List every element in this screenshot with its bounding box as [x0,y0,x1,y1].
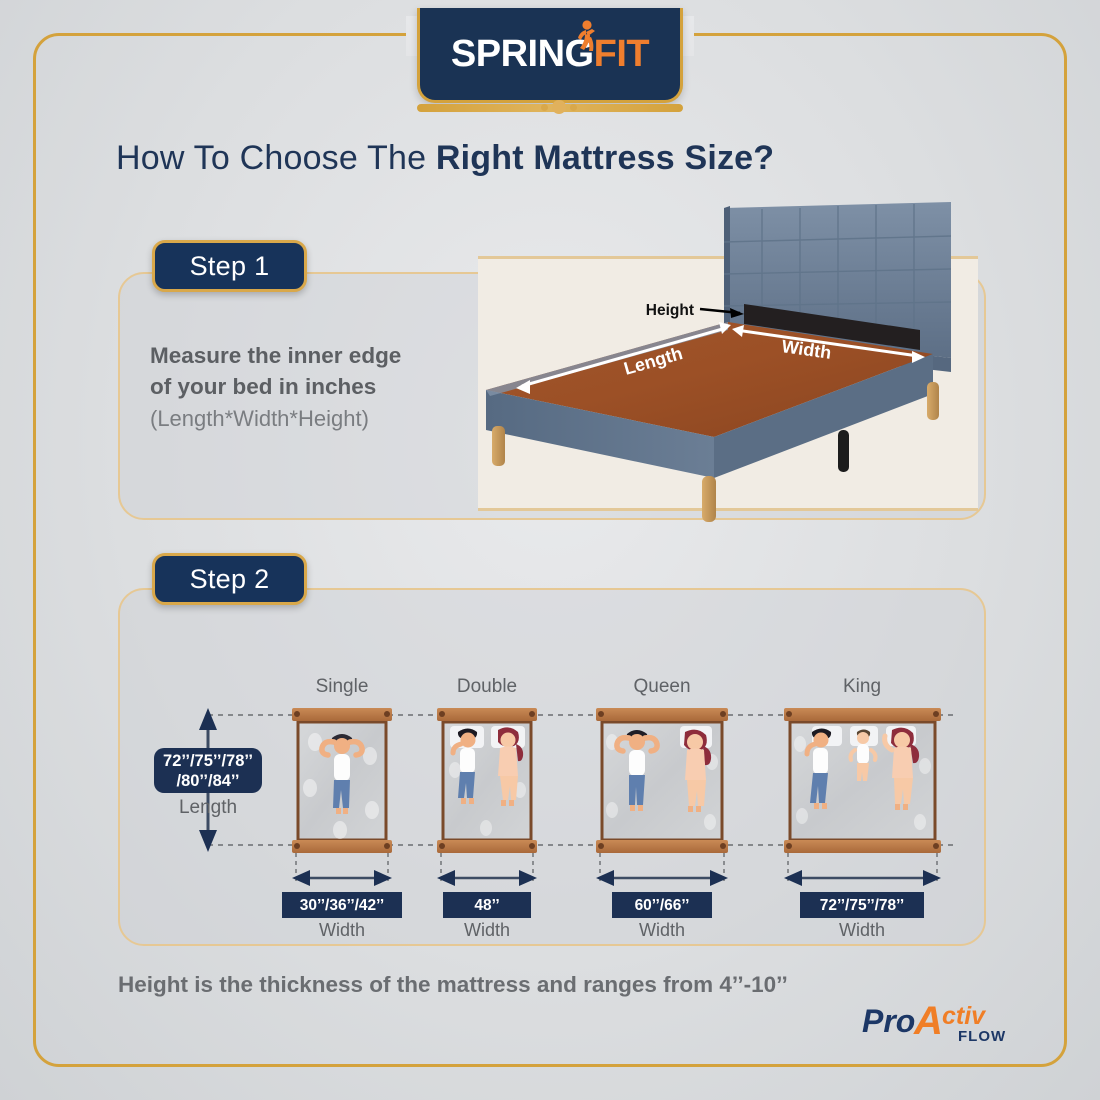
banner-dot-right [570,104,577,111]
mattress-card-queen: Queen [596,676,728,853]
width-guide-double: 48’’ Width [437,853,537,940]
size-name-double: Double [457,676,517,697]
width-caption-queen: Width [639,920,685,940]
width-value-queen: 60’’/66’’ [635,897,690,914]
width-guide-queen: 60’’/66’’ Width [596,853,728,940]
length-value-line-1: 72’’/75’’/78’’ [163,752,253,770]
width-value-double: 48’’ [474,897,499,914]
banner-dot-center [552,100,566,114]
length-value-line-2: /80’’/84’’ [177,772,240,790]
proactiv-ctiv-text: ctiv [942,1002,987,1030]
size-name-queen: Queen [633,676,690,697]
bed-illustration: Height Length Width [478,190,978,540]
bed-height-label: Height [646,302,694,319]
width-value-king: 72’’/75’’/78’’ [820,897,904,914]
brand-logo-banner: SPRINGFIT [417,8,683,103]
mattress-size-diagram: 72’’/75’’/78’’ /80’’/84’’ Length Single … [150,670,960,940]
page-title-regular: How To Choose The [116,139,436,177]
width-guide-king: 72’’/75’’/78’’ Width [784,853,941,940]
mattress-card-single: Single [292,676,392,853]
page-title-bold: Right Mattress Size? [436,139,774,177]
step-1-instructions: Measure the inner edge of your bed in in… [150,340,480,434]
mattress-card-double: Double [437,676,537,853]
step-2-badge: Step 2 [152,553,307,605]
width-caption-king: Width [839,920,885,940]
width-value-single: 30’’/36’’/42’’ [300,897,384,914]
step-1-line-2: of your bed in inches [150,371,480,402]
banner-gold-rule [417,104,683,112]
proactiv-flow-logo: Pro A ctiv FLOW [862,1000,1028,1046]
step-1-line-1: Measure the inner edge [150,340,480,371]
proactiv-pro-text: Pro [862,1003,915,1039]
logo-fit-text: FIT [594,33,649,75]
footer-note: Height is the thickness of the mattress … [118,972,788,998]
mattress-card-king: King [784,676,941,853]
step-1-badge: Step 1 [152,240,307,292]
size-name-single: Single [316,676,369,697]
length-caption: Length [179,797,237,818]
width-guides: 30’’/36’’/42’’ Width 48’’ Width 60’’/66’… [282,853,941,940]
banner-dot-left [541,104,548,111]
width-caption-single: Width [319,920,365,940]
step-1-line-3: (Length*Width*Height) [150,403,480,434]
width-caption-double: Width [464,920,510,940]
proactiv-a-text: A [913,1000,943,1043]
page-title: How To Choose The Right Mattress Size? [116,139,774,178]
proactiv-flow-text: FLOW [958,1028,1006,1045]
brand-logo-text: SPRINGFIT [451,35,649,73]
width-guide-single: 30’’/36’’/42’’ Width [282,853,402,940]
running-man-icon [572,20,598,54]
size-name-king: King [843,676,881,697]
